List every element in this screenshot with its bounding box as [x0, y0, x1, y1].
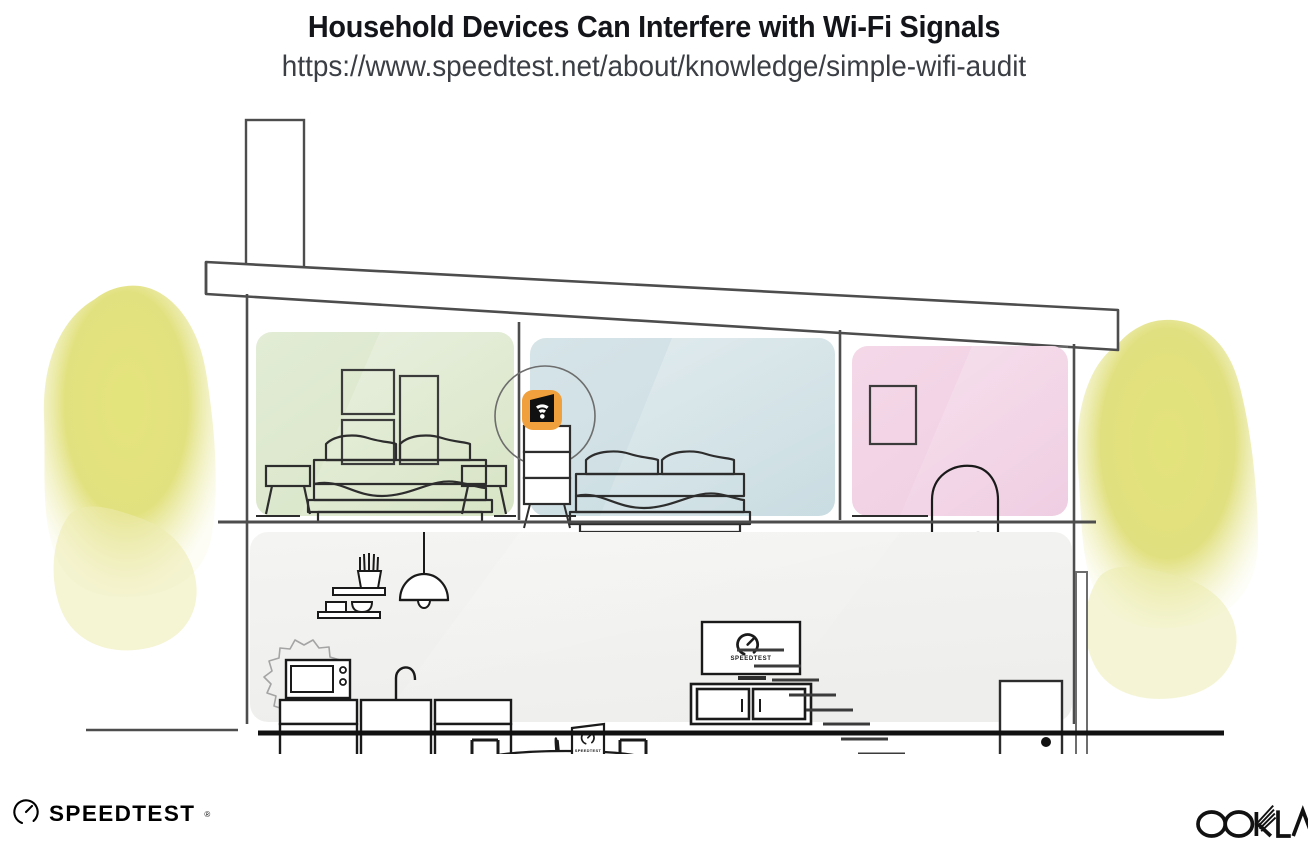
house-cutaway-illustration: SPEEDTEST: [0, 104, 1308, 754]
speedtest-wordmark: SPEEDTEST: [49, 803, 195, 826]
laptop: SPEEDTEST: [556, 724, 622, 754]
room-living-kitchen: SPEEDTEST: [250, 532, 1087, 754]
page-title: Household Devices Can Interfere with Wi-…: [46, 0, 1262, 45]
footer: SPEEDTEST ®: [0, 780, 1308, 861]
kitchen-cabinets: [280, 700, 511, 754]
foliage-left: [44, 286, 216, 651]
source-url: https://www.speedtest.net/about/knowledg…: [46, 45, 1262, 84]
laptop-brand-label: SPEEDTEST: [575, 748, 602, 753]
wifi-router[interactable]: [522, 390, 562, 430]
front-door[interactable]: [1000, 681, 1062, 754]
television-brand-label: SPEEDTEST: [730, 656, 771, 662]
ookla-logo: [1194, 800, 1308, 840]
speedometer-gauge-icon: [12, 798, 40, 831]
sidelight-window: [1076, 572, 1087, 754]
microwave: [286, 660, 350, 698]
dining-chair-right: [618, 740, 648, 754]
speedtest-trademark: ®: [204, 810, 210, 819]
header: Household Devices Can Interfere with Wi-…: [0, 0, 1308, 84]
room-bedroom-left: [256, 332, 516, 522]
infographic-canvas: Household Devices Can Interfere with Wi-…: [0, 0, 1308, 861]
door-knob[interactable]: [1041, 737, 1051, 747]
wall-shelf-upper: [333, 588, 385, 595]
chimney: [246, 120, 304, 272]
speedtest-logo: SPEEDTEST ®: [12, 798, 210, 831]
media-console: [691, 684, 811, 724]
foliage-right: [1077, 320, 1258, 699]
